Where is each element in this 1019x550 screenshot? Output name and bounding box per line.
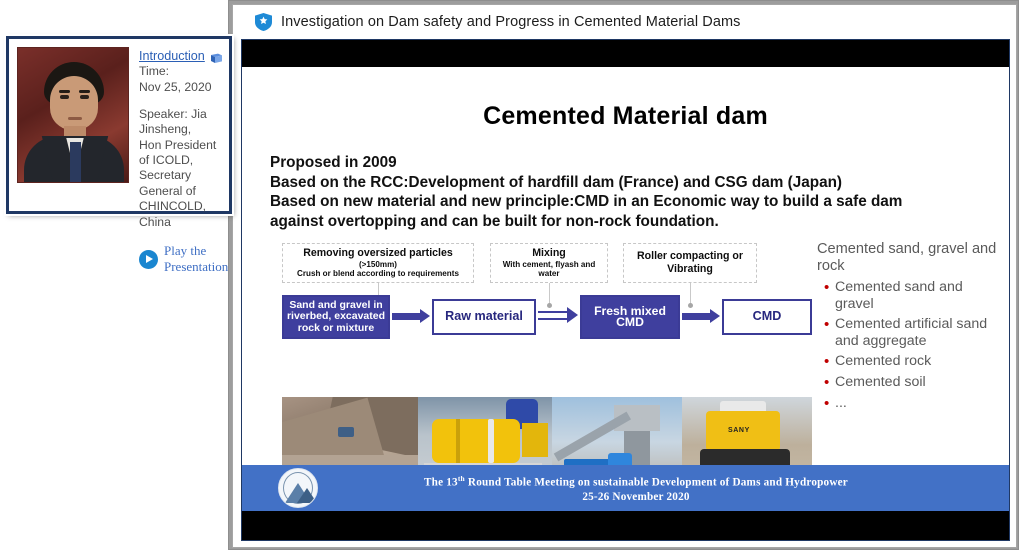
process-step-2-title: Mixing — [495, 247, 603, 260]
window-chrome: Investigation on Dam safety and Progress… — [232, 4, 1017, 548]
window-titlebar: Investigation on Dam safety and Progress… — [233, 5, 1016, 39]
window-title: Investigation on Dam safety and Progress… — [281, 14, 741, 30]
flow-box-4: CMD — [722, 299, 812, 335]
banner-line-2: 25-26 November 2020 — [318, 490, 954, 505]
slide-title: Cemented Material dam — [242, 102, 1009, 131]
introduction-link[interactable]: Introduction — [139, 49, 205, 63]
list-item: • ... — [817, 395, 1002, 412]
list-item: • Cemented soil — [817, 374, 1002, 391]
connector-stem-2 — [549, 283, 550, 305]
play-presentation-button[interactable]: Play the Presentation — [139, 243, 228, 275]
speaker-portrait — [17, 47, 129, 183]
right-list-heading: Cemented sand, gravel and rock — [817, 241, 1002, 275]
process-step-1: Removing oversized particles (>150mm) Cr… — [282, 243, 474, 283]
connector-stem-3 — [690, 283, 691, 305]
list-item: • Cemented sand and gravel — [817, 279, 1002, 312]
speaker-line-4: CHINCOLD, China — [139, 199, 228, 230]
body-line-2: Based on the RCC:Development of hardfill… — [270, 173, 1000, 193]
shield-star-icon — [255, 13, 272, 31]
process-step-3-sub1: Vibrating — [628, 263, 752, 276]
banner-line1-pre: The 13 — [424, 476, 458, 488]
bullet-dot-icon: • — [817, 279, 835, 312]
banner-line-1: The 13th Round Table Meeting on sustaina… — [318, 472, 954, 490]
speaker-info-card: Introduction Time: Nov 25, 2020 Speaker:… — [6, 36, 232, 214]
slide-body-text: Proposed in 2009 Based on the RCC:Develo… — [270, 153, 1000, 231]
process-step-2-sub1: With cement, flyash and — [495, 260, 603, 269]
right-list-item-5: ... — [835, 395, 847, 412]
list-item: • Cemented rock — [817, 353, 1002, 370]
screenshot-root: Investigation on Dam safety and Progress… — [0, 0, 1019, 550]
list-item: • Cemented artificial sand and aggregate — [817, 316, 1002, 349]
speaker-line-2: Hon President of ICOLD, — [139, 138, 228, 169]
bullet-dot-icon: • — [817, 395, 835, 412]
bullet-dot-icon: • — [817, 374, 835, 391]
flow-box-2: Raw material — [432, 299, 536, 335]
play-presentation-label[interactable]: Play the Presentation — [164, 243, 228, 275]
introduction-row[interactable]: Introduction — [139, 49, 228, 63]
right-list-item-2: Cemented artificial sand and aggregate — [835, 316, 1002, 349]
process-step-1-sub1: (>150mm) — [287, 260, 469, 269]
chincold-logo-icon — [278, 468, 318, 508]
book-icon — [210, 51, 223, 62]
play-circle-icon[interactable] — [139, 250, 158, 269]
speaker-line-1: Speaker: Jia Jinsheng, — [139, 107, 228, 138]
letterbox-top — [242, 40, 1009, 67]
body-line-4: against overtopping and can be built for… — [270, 212, 1000, 232]
right-bullet-list: Cemented sand, gravel and rock • Cemente… — [817, 241, 1002, 412]
body-line-1: Proposed in 2009 — [270, 153, 1000, 173]
process-step-1-sub2: Crush or blend according to requirements — [287, 269, 469, 278]
speaker-block: Speaker: Jia Jinsheng, Hon President of … — [139, 107, 228, 230]
speaker-line-3: Secretary General of — [139, 168, 228, 199]
process-step-3: Roller compacting or Vibrating — [623, 243, 757, 283]
time-label: Time: — [139, 64, 228, 79]
process-step-3-title: Roller compacting or — [628, 250, 752, 263]
banner-line1-sup: th — [458, 474, 465, 483]
right-list-item-1: Cemented sand and gravel — [835, 279, 1002, 312]
slide-canvas: Cemented Material dam Proposed in 2009 B… — [242, 67, 1009, 513]
process-step-2-sub2: water — [495, 269, 603, 278]
slide-viewport[interactable]: Cemented Material dam Proposed in 2009 B… — [241, 39, 1010, 541]
bullet-dot-icon: • — [817, 353, 835, 370]
conference-banner-text: The 13th Round Table Meeting on sustaina… — [318, 472, 1009, 505]
letterbox-bottom — [242, 511, 1009, 540]
card-info-column: Introduction Time: Nov 25, 2020 Speaker:… — [129, 47, 228, 205]
conference-banner: The 13th Round Table Meeting on sustaina… — [242, 465, 1009, 511]
application-window: Investigation on Dam safety and Progress… — [228, 0, 1019, 550]
process-step-2: Mixing With cement, flyash and water — [490, 243, 608, 283]
flow-box-3: Fresh mixed CMD — [580, 295, 680, 339]
presentation-date: Nov 25, 2020 — [139, 80, 228, 95]
bullet-dot-icon: • — [817, 316, 835, 349]
flow-box-1: Sand and gravel in riverbed, excavated r… — [282, 295, 390, 339]
flow-arrow-2 — [538, 308, 578, 322]
flow-arrow-3 — [682, 309, 720, 323]
connector-dot-3 — [688, 303, 693, 308]
process-step-1-title: Removing oversized particles — [287, 247, 469, 260]
right-list-item-3: Cemented rock — [835, 353, 931, 370]
right-list-item-4: Cemented soil — [835, 374, 926, 391]
banner-line1-post: Round Table Meeting on sustainable Devel… — [465, 476, 848, 488]
body-line-3: Based on new material and new principle:… — [270, 192, 1000, 212]
flow-arrow-1 — [392, 309, 430, 323]
